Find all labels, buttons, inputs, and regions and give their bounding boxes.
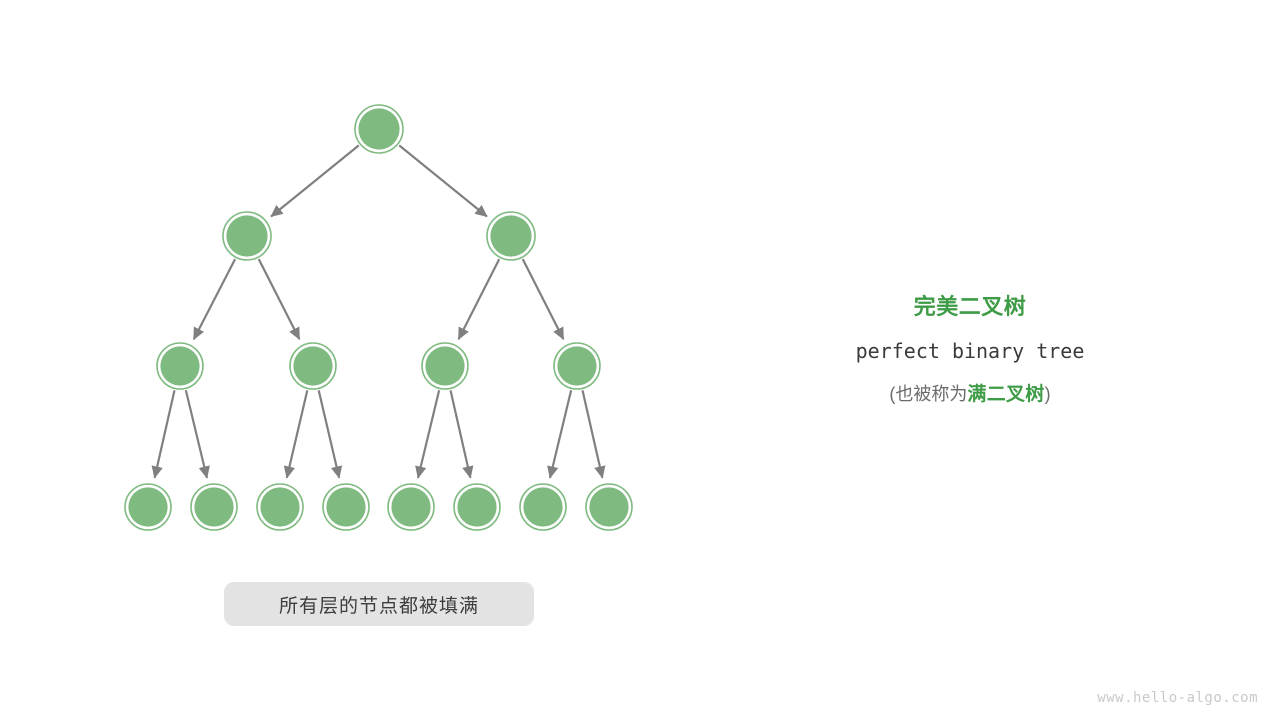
tree-node-core — [293, 346, 332, 385]
tree-node-core — [358, 108, 399, 149]
tree-node[interactable] — [223, 212, 271, 260]
tree-node-core — [425, 346, 464, 385]
tree-node[interactable] — [355, 105, 403, 153]
tree-node[interactable] — [125, 484, 171, 530]
tree-edge — [583, 390, 603, 477]
tree-edge — [287, 390, 307, 477]
tree-node[interactable] — [191, 484, 237, 530]
watermark-text: www.hello-algo.com — [1097, 690, 1258, 706]
tree-edge — [550, 390, 571, 478]
tree-edge — [523, 259, 564, 339]
tree-node[interactable] — [487, 212, 535, 260]
caption-text: 所有层的节点都被填满 — [279, 591, 479, 618]
legend-title-chinese: 完美二叉树 — [790, 292, 1150, 322]
tree-edge — [155, 390, 175, 477]
legend-alias-line: (也被称为满二叉树) — [790, 380, 1150, 409]
legend-block: 完美二叉树 perfect binary tree (也被称为满二叉树) — [790, 292, 1150, 409]
tree-edge — [319, 390, 339, 477]
tree-edge — [194, 259, 235, 339]
legend-alias-term: 满二叉树 — [967, 384, 1044, 405]
caption-badge: 所有层的节点都被填满 — [224, 582, 534, 626]
tree-edge — [259, 259, 300, 339]
tree-node[interactable] — [454, 484, 500, 530]
legend-title-english: perfect binary tree — [790, 336, 1150, 366]
tree-node-core — [557, 346, 596, 385]
tree-edge — [399, 145, 487, 216]
tree-node-core — [260, 487, 299, 526]
tree-edge — [271, 145, 359, 216]
edge-layer — [155, 145, 603, 477]
tree-node[interactable] — [323, 484, 369, 530]
tree-edge — [186, 390, 207, 478]
tree-node[interactable] — [520, 484, 566, 530]
tree-node-core — [523, 487, 562, 526]
tree-edge — [418, 390, 439, 478]
tree-node[interactable] — [554, 343, 600, 389]
tree-node-core — [326, 487, 365, 526]
tree-node[interactable] — [157, 343, 203, 389]
tree-node-core — [226, 215, 267, 256]
tree-node-core — [194, 487, 233, 526]
tree-node-core — [457, 487, 496, 526]
node-layer — [125, 105, 632, 530]
tree-node[interactable] — [290, 343, 336, 389]
tree-node-core — [589, 487, 628, 526]
tree-edge — [451, 390, 471, 477]
tree-node[interactable] — [257, 484, 303, 530]
legend-alias-prefix: (也被称为 — [889, 384, 967, 404]
legend-alias-suffix: ) — [1045, 384, 1051, 404]
tree-node-core — [160, 346, 199, 385]
tree-node-core — [128, 487, 167, 526]
tree-node-core — [490, 215, 531, 256]
tree-node[interactable] — [422, 343, 468, 389]
tree-node[interactable] — [586, 484, 632, 530]
tree-node-core — [391, 487, 430, 526]
tree-edge — [459, 259, 500, 339]
tree-node[interactable] — [388, 484, 434, 530]
diagram-canvas: 完美二叉树 perfect binary tree (也被称为满二叉树) 所有层… — [0, 0, 1280, 720]
